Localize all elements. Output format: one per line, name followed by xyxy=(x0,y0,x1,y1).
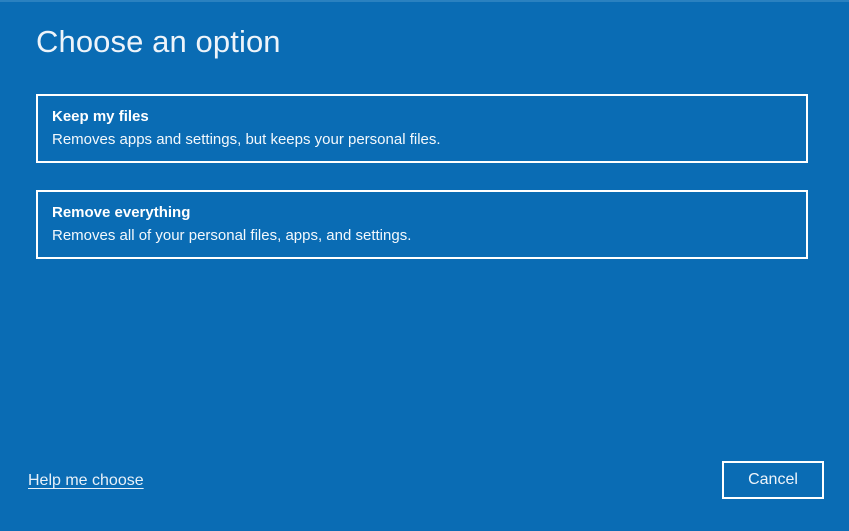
option-title: Keep my files xyxy=(52,107,792,127)
page-title: Choose an option xyxy=(36,22,281,62)
option-title: Remove everything xyxy=(52,203,792,223)
top-edge-divider xyxy=(0,0,849,2)
option-description: Removes apps and settings, but keeps you… xyxy=(52,130,792,150)
cancel-button[interactable]: Cancel xyxy=(722,461,824,499)
option-card-remove-everything[interactable]: Remove everything Removes all of your pe… xyxy=(36,190,808,259)
choose-an-option-screen: Choose an option Keep my files Removes a… xyxy=(0,0,849,531)
option-description: Removes all of your personal files, apps… xyxy=(52,226,792,246)
option-card-keep-my-files[interactable]: Keep my files Removes apps and settings,… xyxy=(36,94,808,163)
help-me-choose-link[interactable]: Help me choose xyxy=(26,470,146,492)
